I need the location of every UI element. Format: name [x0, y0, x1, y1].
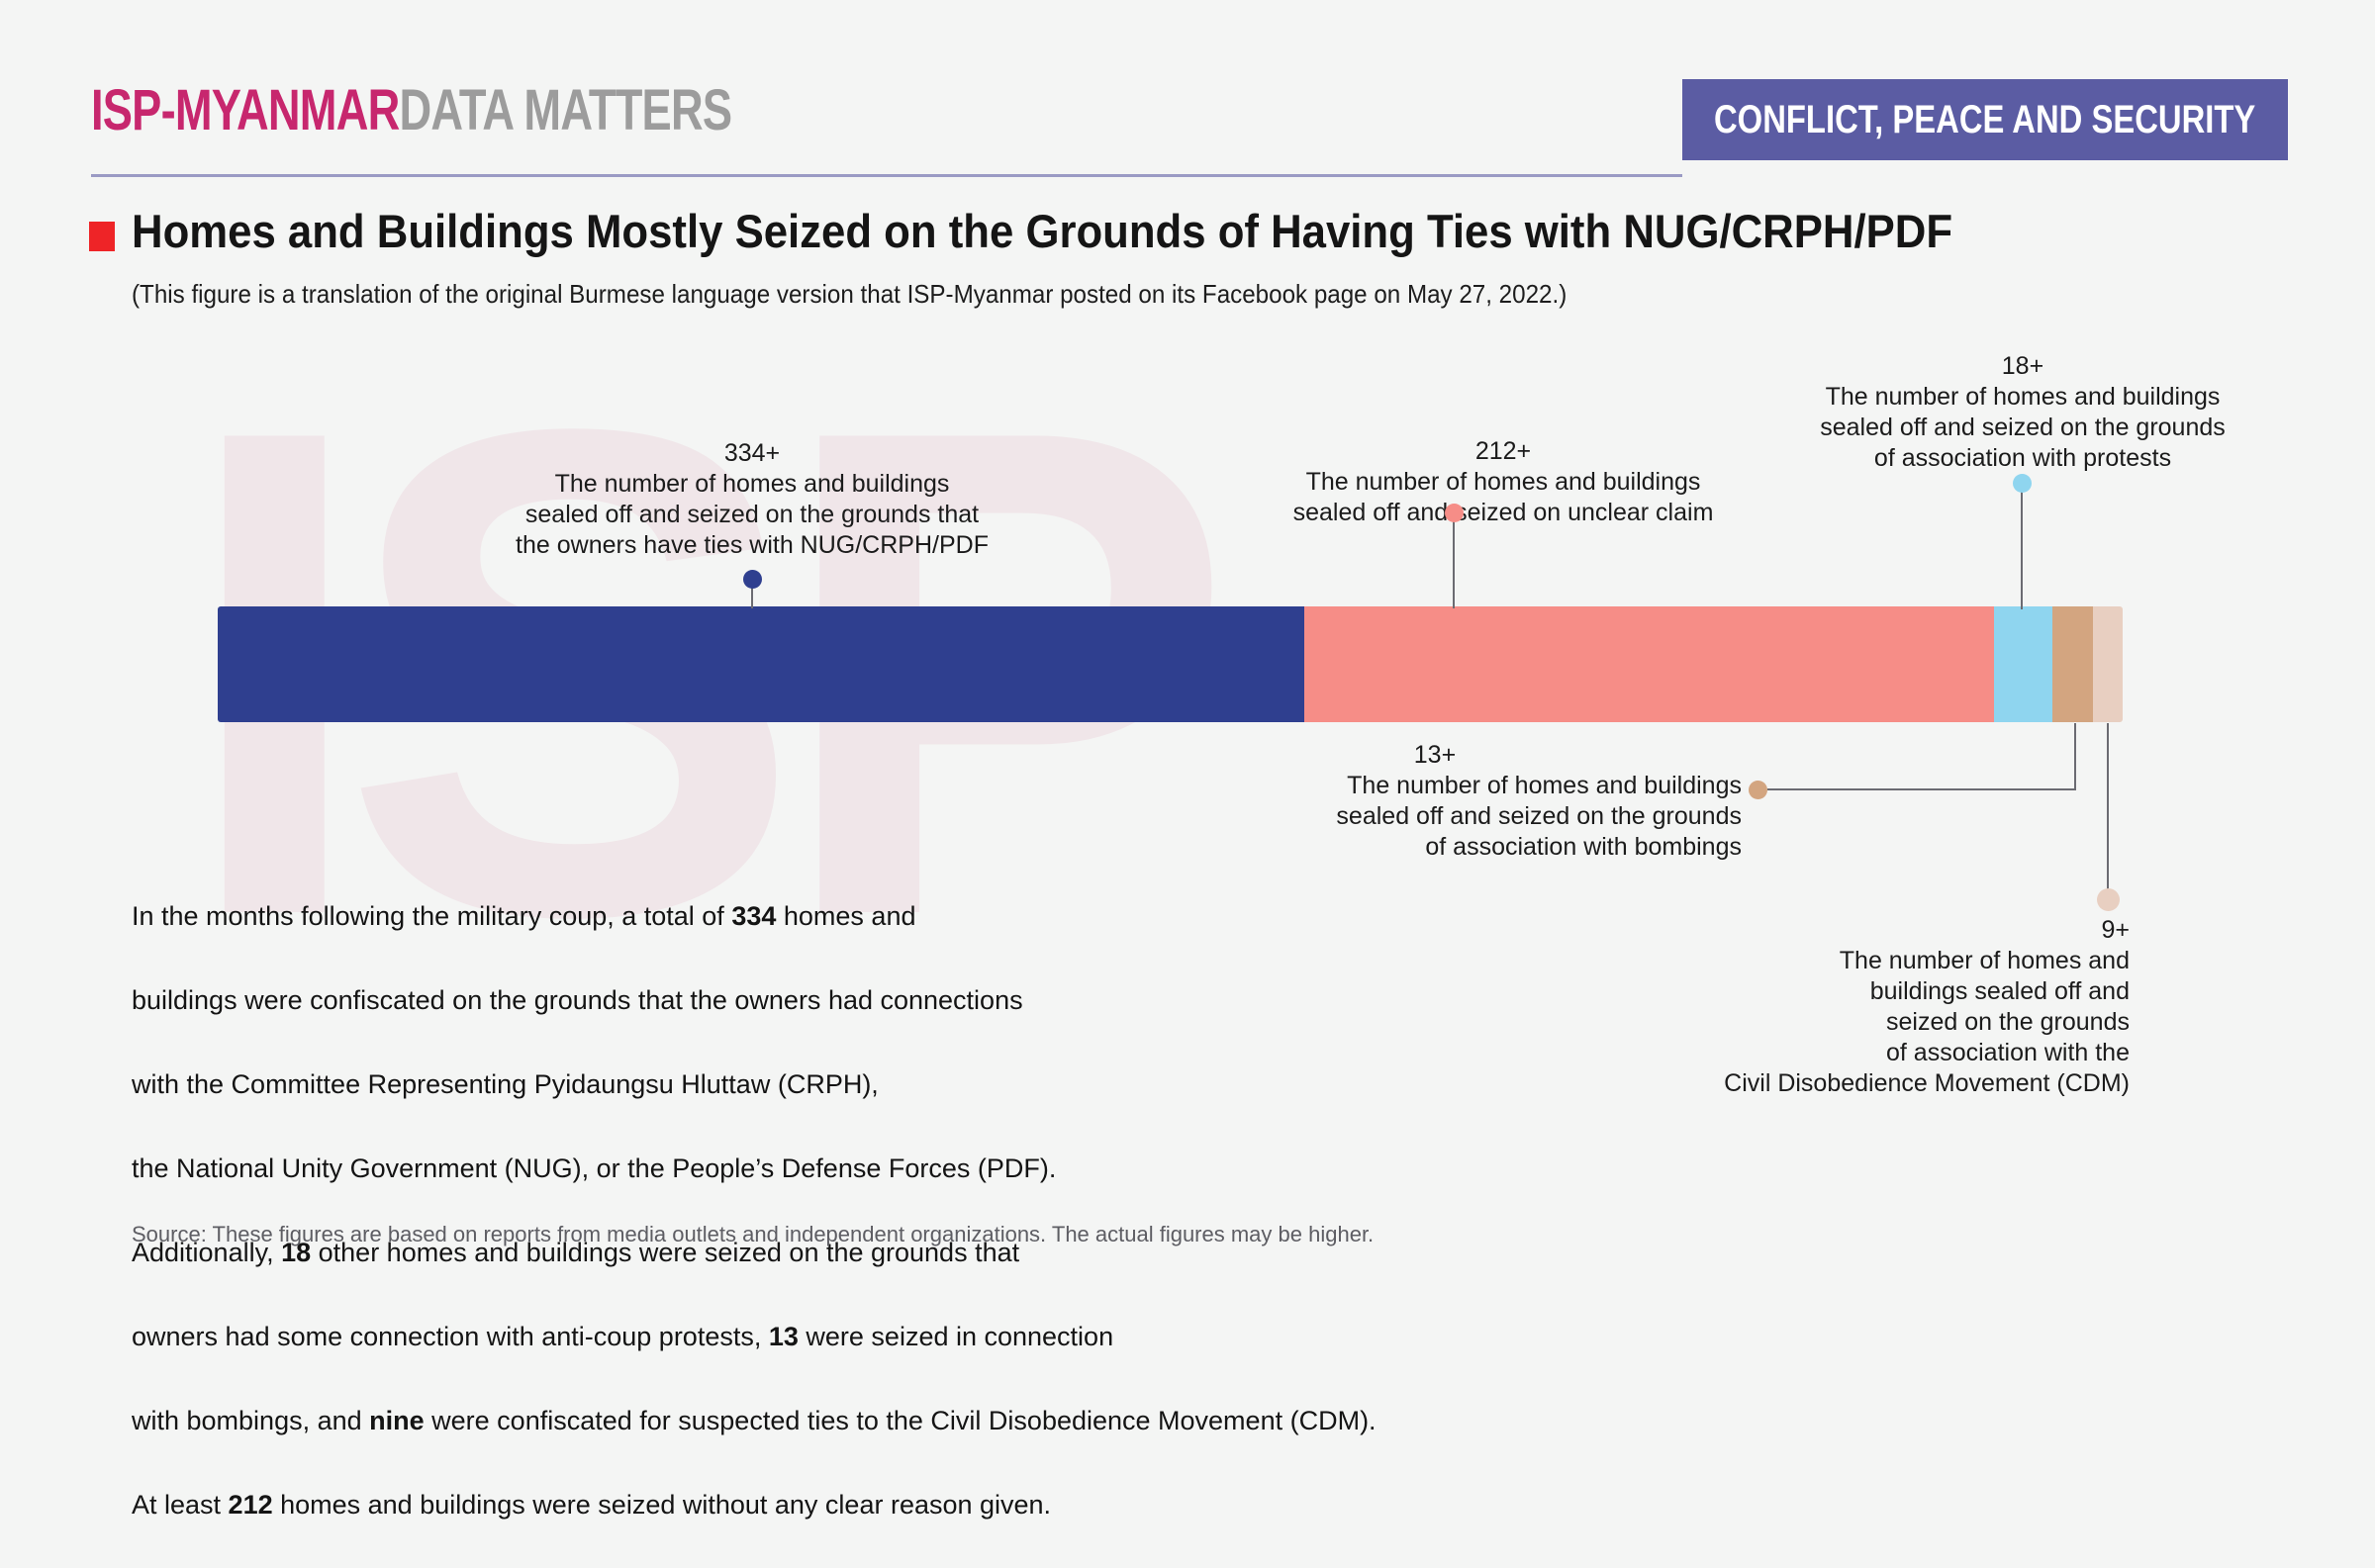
annotation-212-line2: sealed off and seized on unclear claim	[1174, 498, 1833, 528]
body-line-1a: In the months following the military cou…	[132, 901, 731, 931]
annotation-212: 212+ The number of homes and buildings s…	[1174, 436, 1833, 528]
body-line-8-emphasis: 212	[229, 1490, 273, 1520]
annotation-18-line2: sealed off and seized on the grounds	[1756, 413, 2290, 443]
body-line-6-emphasis: 13	[769, 1322, 799, 1351]
bar-segment-protests	[1994, 606, 2052, 722]
annotation-212-dot	[1445, 504, 1464, 522]
annotation-18: 18+ The number of homes and buildings se…	[1756, 351, 2290, 474]
annotation-18-dot	[2013, 474, 2032, 493]
annotation-334-line1: The number of homes and buildings	[445, 469, 1059, 500]
body-line-4: the National Unity Government (NUG), or …	[132, 1148, 1377, 1190]
body-paragraph: In the months following the military cou…	[132, 853, 1377, 1568]
body-line-1-emphasis: 334	[731, 901, 776, 931]
annotation-334-line3: the owners have ties with NUG/CRPH/PDF	[445, 530, 1059, 561]
category-badge: CONFLICT, PEACE AND SECURITY	[1682, 79, 2288, 160]
bar-segment-unclear-claim	[1304, 606, 1994, 722]
annotation-13: 13+ The number of homes and buildings se…	[1128, 740, 1742, 863]
body-line-6: owners had some connection with anti-cou…	[132, 1316, 1377, 1358]
bar-segment-nug-crph-pdf	[218, 606, 1304, 722]
body-line-1: In the months following the military cou…	[132, 895, 1377, 938]
brand-logo: ISP-MYANMARDATA MATTERS	[91, 77, 731, 143]
annotation-18-leader-line	[2021, 483, 2023, 609]
annotation-9-line2: buildings sealed off and	[1583, 976, 2130, 1007]
annotation-9-leader-line	[2107, 723, 2109, 889]
body-line-7: with bombings, and nine were confiscated…	[132, 1400, 1377, 1442]
annotation-334-value: 334+	[445, 438, 1059, 469]
header-divider	[91, 174, 1682, 177]
body-line-3: with the Committee Representing Pyidaung…	[132, 1063, 1377, 1106]
annotation-13-line2: sealed off and seized on the grounds	[1128, 801, 1742, 832]
annotation-334: 334+ The number of homes and buildings s…	[445, 438, 1059, 561]
annotation-18-line3: of association with protests	[1756, 443, 2290, 474]
annotation-13-dot	[1749, 781, 1767, 799]
stacked-bar-chart	[218, 606, 2123, 722]
annotation-18-value: 18+	[1756, 351, 2290, 382]
bar-segment-bombings	[2052, 606, 2093, 722]
body-line-7a: with bombings, and	[132, 1406, 369, 1435]
annotation-334-dot	[743, 570, 762, 589]
page-title: Homes and Buildings Mostly Seized on the…	[132, 204, 1952, 258]
body-line-7-emphasis: nine	[369, 1406, 425, 1435]
annotation-212-leader-line	[1453, 512, 1455, 608]
annotation-334-line2: sealed off and seized on the grounds tha…	[445, 500, 1059, 530]
category-badge-label: CONFLICT, PEACE AND SECURITY	[1714, 98, 2255, 142]
page-header: ISP-MYANMARDATA MATTERS CONFLICT, PEACE …	[0, 0, 2375, 183]
title-bullet-square	[89, 222, 115, 251]
annotation-212-line1: The number of homes and buildings	[1174, 467, 1833, 498]
body-line-2: buildings were confiscated on the ground…	[132, 979, 1377, 1022]
body-line-7c: were confiscated for suspected ties to t…	[425, 1406, 1377, 1435]
body-line-8: At least 212 homes and buildings were se…	[132, 1484, 1377, 1526]
annotation-13-leader-horizontal	[1767, 788, 2076, 790]
body-line-1c: homes and	[776, 901, 915, 931]
page-subtitle: (This figure is a translation of the ori…	[132, 279, 1567, 310]
annotation-13-line1: The number of homes and buildings	[1128, 771, 1742, 801]
annotation-9-line3: seized on the grounds	[1583, 1007, 2130, 1038]
annotation-9-dot	[2097, 888, 2120, 911]
body-line-8c: homes and buildings were seized without …	[273, 1490, 1051, 1520]
annotation-18-line1: The number of homes and buildings	[1756, 382, 2290, 413]
logo-secondary: DATA MATTERS	[399, 78, 731, 142]
logo-primary: ISP-MYANMAR	[91, 78, 399, 142]
annotation-212-value: 212+	[1174, 436, 1833, 467]
annotation-9-value: 9+	[1583, 915, 2130, 946]
source-note: Source: These figures are based on repor…	[132, 1222, 1374, 1247]
annotation-13-leader-vertical	[2074, 723, 2076, 790]
body-line-6a: owners had some connection with anti-cou…	[132, 1322, 769, 1351]
bar-segment-cdm	[2093, 606, 2123, 722]
annotation-9-line5: Civil Disobedience Movement (CDM)	[1583, 1068, 2130, 1099]
body-line-6c: were seized in connection	[799, 1322, 1113, 1351]
annotation-9-line1: The number of homes and	[1583, 946, 2130, 976]
annotation-9: 9+ The number of homes and buildings sea…	[1583, 915, 2130, 1099]
body-line-8a: At least	[132, 1490, 229, 1520]
annotation-13-value: 13+	[1128, 740, 1742, 771]
annotation-9-line4: of association with the	[1583, 1038, 2130, 1068]
